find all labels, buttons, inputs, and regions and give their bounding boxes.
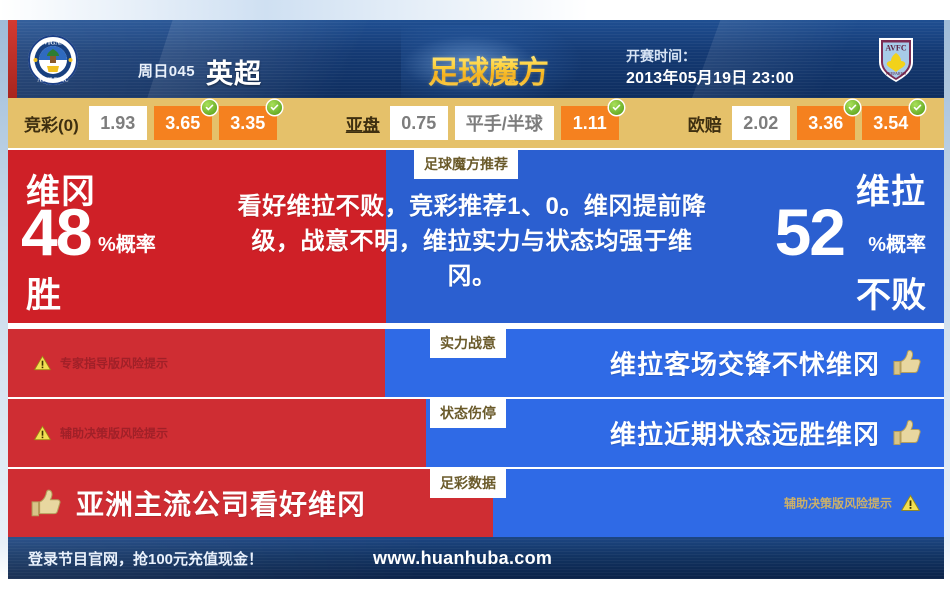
odds-cell[interactable]: 1.93 bbox=[89, 106, 147, 140]
check-icon bbox=[202, 100, 217, 115]
row-headline: 亚洲主流公司看好维冈 bbox=[30, 483, 366, 523]
match-header: WIGAN ATHLETIC 周日045 英超 足球魔方 足球魔方 开赛时间： … bbox=[8, 20, 944, 98]
odds-cell-value: 3.54 bbox=[873, 113, 908, 134]
warning-icon bbox=[34, 426, 51, 441]
league-name: 英超 bbox=[206, 52, 262, 91]
away-probability-unit: %概率 bbox=[868, 228, 926, 257]
warning-icon bbox=[901, 495, 920, 512]
promo-card: WIGAN ATHLETIC 周日045 英超 足球魔方 足球魔方 开赛时间： … bbox=[0, 0, 950, 593]
odds-cell[interactable]: 3.65 bbox=[154, 106, 212, 140]
home-team-crest-icon: WIGAN ATHLETIC bbox=[27, 34, 79, 86]
footer-promo-text: 登录节目官网，抢100元充值现金！ bbox=[28, 548, 263, 569]
risk-note-text: 专家指导版风险提示 bbox=[60, 355, 168, 372]
header-accent-tab bbox=[8, 20, 17, 98]
thumbs-up-icon bbox=[30, 489, 62, 518]
risk-note: 辅助决策版风险提示 bbox=[34, 425, 168, 442]
ambient-top-glow bbox=[0, 0, 950, 20]
thumbs-up-icon bbox=[892, 420, 922, 447]
row-headline: 维拉近期状态远胜维冈 bbox=[610, 415, 922, 452]
kickoff-time: 2013年05月19日 23:00 bbox=[626, 67, 836, 90]
row-headline-text: 维拉近期状态远胜维冈 bbox=[610, 415, 880, 452]
kickoff-block: 开赛时间： 2013年05月19日 23:00 bbox=[626, 46, 836, 90]
odds-cell[interactable]: 3.35 bbox=[219, 106, 277, 140]
check-icon bbox=[609, 100, 624, 115]
home-probability-unit: %概率 bbox=[98, 228, 156, 257]
check-icon bbox=[267, 100, 282, 115]
brand-logo: 足球魔方 足球魔方 bbox=[423, 45, 553, 91]
odds-bar: 竞彩(0) 1.93 3.65 3.35 亚盘 0.75 平手/半球 1.11 bbox=[8, 98, 944, 148]
odds-cell-value: 1.11 bbox=[573, 113, 607, 134]
row-tag: 足彩数据 bbox=[430, 469, 506, 498]
row-red-bar: 辅助决策版风险提示 bbox=[8, 399, 426, 467]
row-blue-bar: 辅助决策版风险提示 bbox=[493, 469, 944, 537]
header-sheen bbox=[134, 20, 443, 98]
footer-url[interactable]: www.huanhuba.com bbox=[373, 548, 552, 569]
thumbs-up-icon bbox=[892, 350, 922, 377]
odds-cell[interactable]: 3.36 bbox=[797, 106, 855, 140]
match-number: 周日045 bbox=[138, 60, 195, 81]
check-icon bbox=[845, 100, 860, 115]
away-team-crest-icon: AVFC PREPARED bbox=[870, 32, 922, 84]
svg-text:PREPARED: PREPARED bbox=[886, 71, 906, 76]
row-red-bar: 亚洲主流公司看好维冈 bbox=[8, 469, 493, 537]
svg-text:AVFC: AVFC bbox=[885, 44, 906, 53]
recommendation-text: 看好维拉不败，竞彩推荐1、0。维冈提前降级，战意不明，维拉实力与状态均强于维冈。 bbox=[232, 190, 712, 294]
odds-group-title: 亚盘 bbox=[346, 111, 380, 136]
home-probability: 48 bbox=[21, 199, 90, 265]
odds-cell[interactable]: 0.75 bbox=[390, 106, 448, 140]
odds-cell[interactable]: 2.02 bbox=[732, 106, 790, 140]
away-outcome: 不败 bbox=[856, 267, 926, 318]
odds-cell[interactable]: 3.54 bbox=[862, 106, 920, 140]
row-red-bar: 专家指导版风险提示 bbox=[8, 329, 385, 397]
brand-logo-text: 足球魔方 bbox=[423, 47, 553, 92]
check-icon bbox=[910, 100, 925, 115]
odds-cell-value: 3.35 bbox=[230, 113, 265, 134]
kickoff-label: 开赛时间： bbox=[626, 46, 836, 67]
risk-note: 专家指导版风险提示 bbox=[34, 355, 168, 372]
odds-group-title: 欧赔 bbox=[688, 111, 722, 136]
odds-group-yapan: 亚盘 0.75 平手/半球 1.11 bbox=[346, 106, 626, 140]
risk-note-text: 辅助决策版风险提示 bbox=[784, 495, 892, 512]
row-headline-text: 维拉客场交锋不怵维冈 bbox=[610, 345, 880, 382]
odds-group-oupei: 欧赔 2.02 3.36 3.54 bbox=[688, 106, 927, 140]
footer-bar: 登录节目官网，抢100元充值现金！ www.huanhuba.com bbox=[8, 537, 944, 579]
ambient-left-edge bbox=[0, 20, 8, 543]
row-tag: 状态伤停 bbox=[430, 399, 506, 428]
svg-text:ATHLETIC: ATHLETIC bbox=[37, 78, 68, 84]
row-tag: 实力战意 bbox=[430, 329, 506, 358]
home-outcome: 胜 bbox=[26, 267, 61, 318]
odds-group-jingcai: 竞彩(0) 1.93 3.65 3.35 bbox=[24, 106, 284, 140]
risk-note-text: 辅助决策版风险提示 bbox=[60, 425, 168, 442]
ambient-right-edge bbox=[944, 20, 950, 543]
risk-note: 辅助决策版风险提示 bbox=[784, 495, 920, 512]
away-team-name: 维拉 bbox=[856, 164, 926, 213]
odds-cell-value: 3.65 bbox=[165, 113, 200, 134]
row-headline: 维拉客场交锋不怵维冈 bbox=[610, 345, 922, 382]
odds-cell-handicap[interactable]: 平手/半球 bbox=[455, 106, 554, 140]
warning-icon bbox=[34, 356, 51, 371]
recommendation-tag: 足球魔方推荐 bbox=[414, 150, 518, 179]
odds-cell[interactable]: 1.11 bbox=[561, 106, 619, 140]
odds-cell-value: 3.36 bbox=[808, 113, 843, 134]
row-headline-text: 亚洲主流公司看好维冈 bbox=[76, 483, 366, 523]
away-probability: 52 bbox=[775, 199, 844, 265]
svg-text:WIGAN: WIGAN bbox=[41, 40, 65, 47]
odds-group-title: 竞彩(0) bbox=[24, 111, 79, 136]
